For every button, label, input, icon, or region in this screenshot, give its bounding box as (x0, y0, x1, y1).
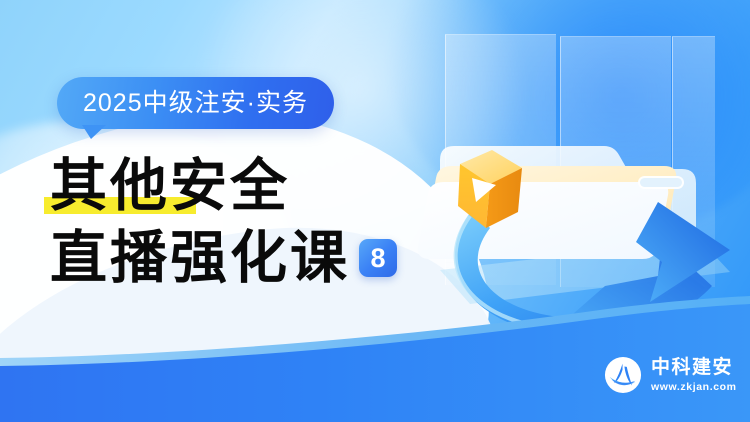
brand-name: 中科建安 (651, 357, 737, 378)
title-line-1-highlight: 其他 (50, 152, 170, 219)
badge-tail-icon (82, 125, 106, 139)
title-line-2: 直播强化课8 (50, 222, 470, 294)
brand-text-block: 中科建安 www.zkjan.com (651, 357, 737, 394)
zkjan-circle-logo-icon (604, 356, 642, 394)
brand-url: www.zkjan.com (651, 380, 737, 394)
course-subject-badge: 2025中级注安·实务 (57, 77, 334, 129)
title-line-2-text: 直播强化课 (50, 224, 350, 291)
course-promo-banner: 2025中级注安·实务 其他 安全 直播强化课8 (0, 0, 750, 422)
brand-logo: 中科建安 www.zkjan.com (604, 356, 737, 394)
episode-number-badge: 8 (359, 239, 397, 277)
title-highlight-group: 其他 (50, 150, 170, 222)
title-block: 其他 安全 直播强化课8 (50, 150, 470, 294)
title-line-1: 其他 安全 (50, 150, 470, 222)
title-line-1-rest: 安全 (170, 152, 290, 219)
